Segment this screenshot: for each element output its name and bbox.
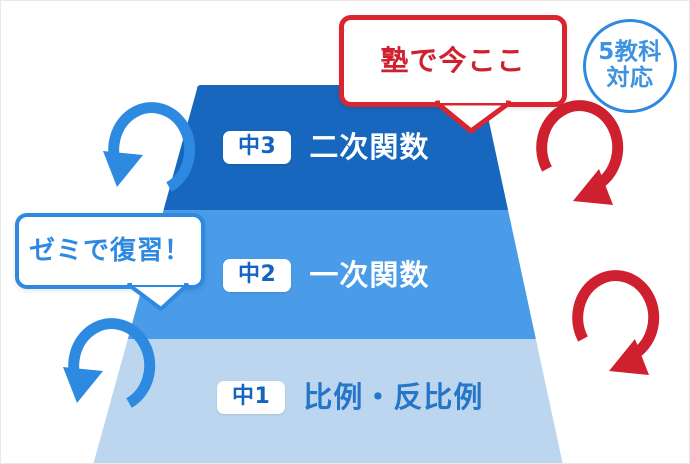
loop-arrow-red-bottom [565, 323, 663, 443]
tier-title-3: 二次関数 [309, 133, 429, 162]
tier-row-grade2: 中2 一次関数 [223, 259, 429, 292]
tier-row-grade3: 中3 二次関数 [223, 131, 429, 164]
badge-subject-count: 5教科 対応 [583, 19, 677, 113]
speech-bubble-red: 塾で今ここ [339, 15, 567, 107]
speech-bubble-blue-text: ゼミで復習！ [29, 238, 191, 264]
grade-badge-2: 中2 [223, 259, 291, 292]
speech-bubble-red-tail [431, 101, 531, 143]
speech-bubble-red-text: 塾で今ここ [380, 47, 525, 75]
loop-arrow-blue-bottom [49, 299, 147, 419]
badge-line-2: 対応 [607, 66, 654, 92]
tier-row-grade1: 中1 比例・反比例 [217, 381, 483, 414]
grade-badge-1: 中1 [217, 381, 285, 414]
loop-arrow-red-top [529, 153, 627, 273]
loop-arrow-blue-top [89, 83, 187, 203]
grade-badge-3: 中3 [223, 131, 291, 164]
tier-title-1: 比例・反比例 [303, 383, 483, 412]
tier-title-2: 一次関数 [309, 261, 429, 290]
diagram-canvas: 中3 二次関数 中2 一次関数 中1 比例・反比例 塾で今ここ ゼミで復習！ 5… [0, 0, 690, 464]
badge-line-1: 5教科 [598, 40, 662, 66]
